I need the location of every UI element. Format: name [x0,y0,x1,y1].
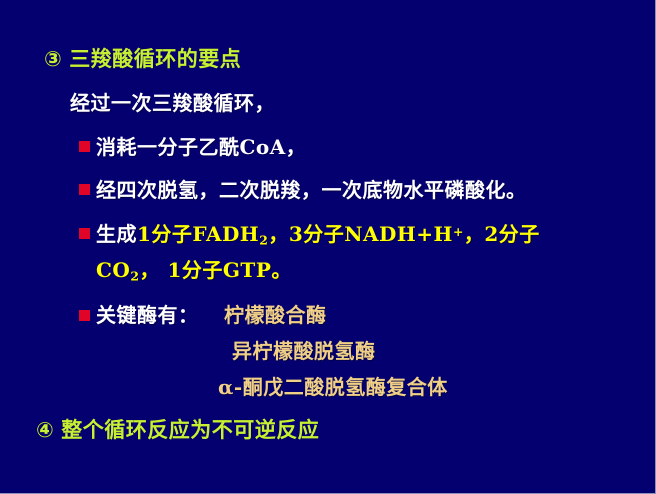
bullet-3-superscript-2: + [453,224,464,239]
bullet-3-sep-2: ， [464,222,485,246]
heading-3-marker: ③ [44,47,62,71]
slide-canvas: ③三羧酸循环的要点 经过一次三羧酸循环， 消耗一分子乙酰CoA， 经四次脱氢，二… [0,0,656,494]
bullet-4-label: 关键酶有： [96,299,199,328]
red-square-bullet-icon-1 [79,141,90,152]
intro-line: 经过一次三羧酸循环， [70,87,275,116]
red-square-bullet-icon-3 [79,228,90,239]
bullet-3-sep-1: ， [268,222,289,246]
bullet-3-wrap-part-2: 1分子GTP。 [167,258,291,282]
enzyme-item-3: α-酮戊二酸脱氢酶复合体 [218,371,448,400]
bullet-3-emphasis-part-2: 3分子NADH+H [289,222,453,246]
bullet-2-text: 经四次脱氢，二次脱羧，一次底物水平磷酸化。 [96,174,527,203]
bullet-1-text: 消耗一分子乙酰CoA， [96,131,306,160]
bullet-3-emphasis-part-3: 2分子 [484,222,539,246]
heading-4: ④整个循环反应为不可逆反应 [36,414,319,444]
red-square-bullet-icon-4 [79,310,90,321]
heading-3-text: 三羧酸循环的要点 [69,46,241,71]
heading-3: ③三羧酸循环的要点 [44,43,241,73]
bullet-3-wrap-sep-1: ， [139,258,160,282]
bullet-3-prefix: 生成 [96,222,137,246]
heading-4-text: 整个循环反应为不可逆反应 [61,417,319,442]
enzyme-item-2: 异柠檬酸脱氢酶 [232,335,376,364]
enzyme-item-1: 柠檬酸合酶 [224,299,327,328]
bullet-3-emphasis-part-1: 1分子FADH [137,222,259,246]
bullet-3-line-2: CO2， 1分子GTP。 [96,254,292,283]
bullet-3-wrap-part-1: CO [96,258,130,282]
bullet-3-subscript-1: 2 [259,232,268,247]
red-square-bullet-icon-2 [79,184,90,195]
bullet-3-line-1: 生成1分子FADH2，3分子NADH+H+，2分子 [96,218,540,247]
heading-4-marker: ④ [36,418,54,442]
